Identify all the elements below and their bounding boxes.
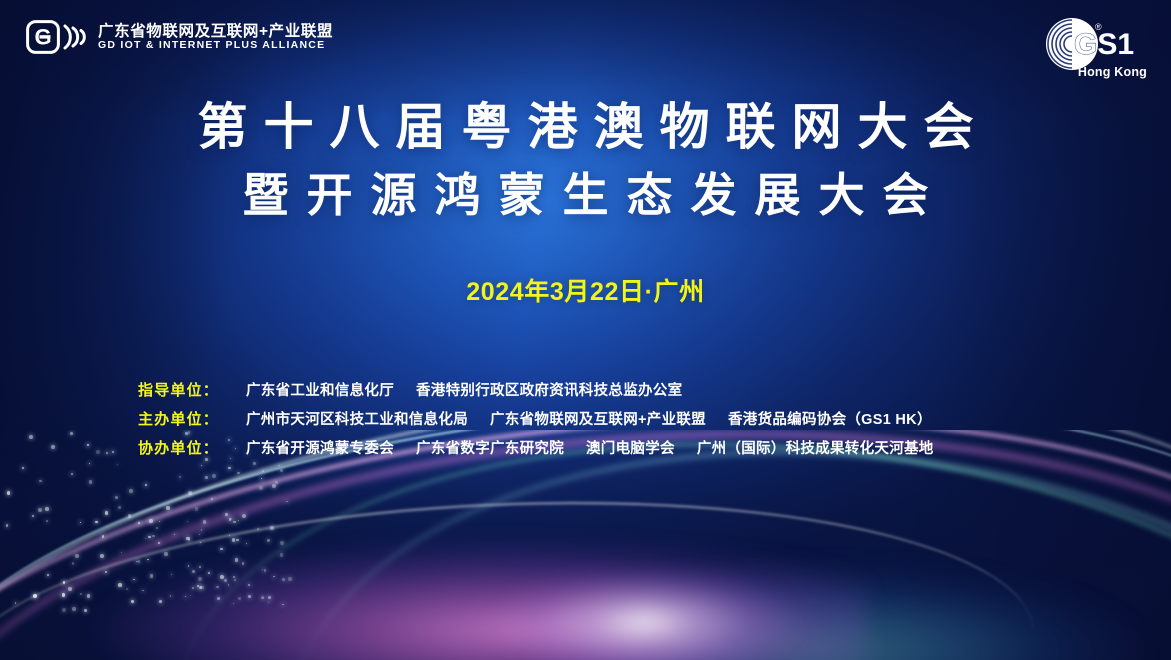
- sparkle-dot: [87, 594, 90, 597]
- sparkle-dot: [170, 595, 172, 597]
- sparkle-dot: [185, 596, 186, 597]
- sparkle-dot: [89, 480, 92, 483]
- sparkle-dot: [45, 507, 49, 511]
- sparkle-dot: [238, 597, 241, 600]
- sparkle-dot: [280, 553, 284, 557]
- sparkle-dot: [200, 542, 201, 543]
- sparkle-dot: [70, 432, 73, 435]
- sparkle-dot: [211, 498, 213, 500]
- sparkle-dot: [248, 584, 250, 586]
- sparkle-dot: [15, 602, 16, 603]
- sparkle-dot: [95, 521, 97, 523]
- sparkle-dot: [187, 521, 188, 522]
- sparkle-dot: [282, 604, 284, 606]
- sparkle-dot: [261, 478, 262, 479]
- svg-text:®: ®: [1095, 22, 1102, 32]
- sparkle-dot: [80, 593, 83, 596]
- conference-title: 第十八届粤港澳物联网大会 暨开源鸿蒙生态发展大会: [0, 101, 1171, 220]
- sparkle-dot: [273, 576, 275, 578]
- sparkle-dot: [188, 539, 190, 541]
- sparkle-dot: [236, 539, 239, 542]
- organizer-name: 广东省物联网及互联网+产业联盟: [490, 412, 706, 428]
- organizer-name: 广州（国际）科技成果转化天河基地: [697, 441, 934, 457]
- sparkle-dot: [62, 593, 66, 597]
- sparkle-dot: [199, 534, 201, 536]
- sparkle-dot: [233, 603, 234, 604]
- sparkle-dot: [80, 522, 81, 523]
- sparkle-dot: [129, 489, 133, 493]
- gs1-region-label: Hong Kong: [1078, 65, 1147, 79]
- sparkle-dot: [262, 569, 263, 570]
- sparkle-dot: [29, 435, 33, 439]
- sparkle-dot: [268, 596, 271, 599]
- sparkle-dot: [235, 558, 239, 562]
- sparkle-dot: [286, 501, 287, 502]
- sparkle-dot: [199, 566, 201, 568]
- sparkle-dot: [121, 552, 122, 553]
- sparkle-dot: [179, 476, 181, 478]
- sparkle-dot: [234, 579, 236, 581]
- organizer-names: 广东省工业和信息化厅香港特别行政区政府资讯科技总监办公室: [246, 379, 682, 400]
- sparkle-dot: [280, 469, 283, 472]
- sparkle-dot: [205, 476, 208, 479]
- sparkle-dot: [288, 577, 292, 581]
- organizer-name: 香港特别行政区政府资讯科技总监办公室: [416, 383, 682, 399]
- sparkle-dot: [230, 518, 232, 520]
- sparkle-dot: [33, 594, 37, 598]
- sparkle-dot: [212, 474, 216, 478]
- sparkle-dot: [75, 554, 79, 558]
- sparkle-dot: [133, 579, 135, 581]
- sparkle-dot: [32, 515, 34, 517]
- organizer-name: 澳门电脑学会: [586, 441, 675, 457]
- organizer-label: 协办单位：: [138, 437, 246, 458]
- sparkle-dot: [201, 529, 203, 531]
- sparkle-dot: [228, 467, 231, 470]
- sparkle-dot: [192, 587, 194, 589]
- sparkle-dot: [248, 595, 251, 598]
- organizer-label: 指导单位：: [138, 379, 246, 400]
- sparkle-dot: [224, 579, 227, 582]
- sparkle-dot: [138, 560, 140, 562]
- sparkle-dot: [188, 491, 192, 495]
- sparkle-dot: [200, 586, 204, 590]
- sparkle-dot: [39, 480, 42, 483]
- sparkle-dot: [275, 481, 279, 485]
- date-location: 2024年3月22日·广州: [0, 272, 1171, 308]
- sparkle-dot: [208, 572, 210, 574]
- sparkle-dot: [242, 562, 244, 564]
- organizer-name: 香港货品编码协会（GS1 HK）: [728, 412, 932, 428]
- sparkle-dot: [147, 559, 149, 561]
- sparkle-dot: [128, 514, 132, 518]
- sparkle-dot: [195, 507, 199, 511]
- title-line-2: 暨开源鸿蒙生态发展大会: [0, 172, 1171, 220]
- gd-alliance-signal-icon: G: [26, 20, 89, 54]
- sparkle-dot: [63, 581, 65, 583]
- sparkle-dot: [115, 496, 118, 499]
- sparkle-dot: [148, 536, 151, 539]
- sparkle-dot: [126, 588, 128, 590]
- sparkle-dot: [96, 450, 100, 454]
- sparkle-dot: [71, 473, 73, 475]
- sparkle-dot: [72, 562, 75, 565]
- sparkle-dot: [237, 472, 239, 474]
- sparkle-dot: [38, 508, 42, 512]
- gd-alliance-wordmark: 广东省物联网及互联网+产业联盟 GD IOT & INTERNET PLUS A…: [98, 24, 333, 51]
- sparkle-dot: [225, 513, 228, 516]
- organizer-row: 协办单位：广东省开源鸿蒙专委会广东省数字广东研究院澳门电脑学会广州（国际）科技成…: [138, 437, 934, 458]
- sparkle-dot: [198, 577, 202, 581]
- sparkle-dot: [145, 538, 147, 540]
- sparkle-dot: [84, 609, 87, 612]
- sparkle-dot: [268, 602, 269, 603]
- sparkle-dot: [229, 535, 230, 536]
- sparkle-dot: [142, 590, 143, 591]
- sparkle-dot: [270, 526, 274, 530]
- sparkle-dot: [166, 506, 170, 510]
- sparkle-dot: [220, 548, 223, 551]
- sparkle-dot: [228, 584, 230, 586]
- sparkle-dot: [164, 552, 168, 556]
- sparkle-dot: [89, 463, 91, 465]
- sparkle-dot: [233, 521, 236, 524]
- sparkle-dot: [87, 444, 89, 446]
- sparkle-dot: [46, 520, 49, 523]
- sparkle-dot: [51, 445, 55, 449]
- sparkle-dot: [174, 534, 175, 535]
- title-line-1: 第十八届粤港澳物联网大会: [0, 101, 1171, 153]
- sparkle-dot: [117, 464, 119, 466]
- sparkle-dot: [118, 583, 122, 587]
- sparkle-dot: [264, 569, 267, 572]
- gd-alliance-name-cn: 广东省物联网及互联网+产业联盟: [98, 24, 333, 40]
- organizer-name: 广州市天河区科技工业和信息化局: [246, 412, 468, 428]
- sparkle-dot: [112, 451, 114, 453]
- sparkle-dot: [282, 578, 285, 581]
- sparkle-dot: [272, 484, 276, 488]
- sparkle-dot: [150, 574, 153, 577]
- organizer-name: 广东省工业和信息化厅: [246, 383, 394, 399]
- sparkle-dot: [188, 565, 190, 567]
- sparkle-dot: [159, 600, 162, 603]
- sparkle-dot: [152, 535, 154, 537]
- sparkle-dot: [7, 491, 10, 494]
- sparkle-dot: [259, 486, 262, 489]
- sparkle-dot: [100, 554, 104, 558]
- organizer-names: 广州市天河区科技工业和信息化局广东省物联网及互联网+产业联盟香港货品编码协会（G…: [246, 408, 932, 429]
- gs1-hong-kong-logo: GS1 ® Hong Kong: [1029, 16, 1149, 85]
- sparkle-dot: [203, 520, 207, 524]
- sparkle-dot: [131, 600, 134, 603]
- sparkle-dot: [118, 506, 122, 510]
- sparkle-dot: [216, 586, 219, 589]
- sparkle-dot: [149, 519, 153, 523]
- conference-banner: G 广东省物联网及互联网+产业联盟 GD IOT & INTERNET PLUS…: [0, 0, 1171, 660]
- sparkle-dot: [217, 597, 220, 600]
- sparkle-dot: [232, 538, 236, 542]
- sparkle-dot: [105, 511, 109, 515]
- organizer-row: 指导单位：广东省工业和信息化厅香港特别行政区政府资讯科技总监办公室: [138, 379, 934, 400]
- gd-alliance-name-en: GD IOT & INTERNET PLUS ALLIANCE: [98, 40, 333, 51]
- sparkle-dot: [159, 521, 160, 522]
- sparkle-dot: [68, 587, 72, 591]
- organizer-names: 广东省开源鸿蒙专委会广东省数字广东研究院澳门电脑学会广州（国际）科技成果转化天河…: [246, 437, 934, 458]
- gd-alliance-logo: G 广东省物联网及互联网+产业联盟 GD IOT & INTERNET PLUS…: [26, 20, 333, 54]
- sparkle-dot: [242, 514, 246, 518]
- sparkle-dot: [105, 571, 108, 574]
- sparkle-dot: [106, 452, 109, 455]
- sparkle-dot: [280, 541, 284, 545]
- sparkle-dot: [246, 543, 247, 544]
- sparkle-dot: [22, 467, 24, 469]
- sparkle-dot: [6, 524, 9, 527]
- sparkle-dot: [267, 539, 270, 542]
- organizer-name: 广东省开源鸿蒙专委会: [246, 441, 394, 457]
- sparkle-dot: [72, 607, 76, 611]
- sparkle-dot: [62, 608, 66, 612]
- sparkle-dot: [233, 576, 235, 578]
- sparkle-dot: [171, 574, 172, 575]
- sparkle-dot: [138, 522, 140, 524]
- organizer-name: 广东省数字广东研究院: [416, 441, 564, 457]
- organizer-list: 指导单位：广东省工业和信息化厅香港特别行政区政府资讯科技总监办公室主办单位：广州…: [138, 379, 934, 466]
- sparkle-dot: [262, 470, 263, 471]
- sparkle-dot: [156, 527, 158, 529]
- organizer-label: 主办单位：: [138, 408, 246, 429]
- sparkle-dot: [102, 535, 104, 537]
- sparkle-dot: [257, 528, 259, 530]
- sparkle-dot: [145, 484, 147, 486]
- sparkle-dot: [238, 520, 239, 521]
- sparkle-dot: [47, 574, 49, 576]
- sparkle-dot: [190, 595, 191, 596]
- svg-text:GS1: GS1: [1074, 28, 1134, 61]
- organizer-row: 主办单位：广州市天河区科技工业和信息化局广东省物联网及互联网+产业联盟香港货品编…: [138, 408, 934, 429]
- sparkle-dot: [158, 542, 160, 544]
- sparkle-dot: [192, 570, 195, 573]
